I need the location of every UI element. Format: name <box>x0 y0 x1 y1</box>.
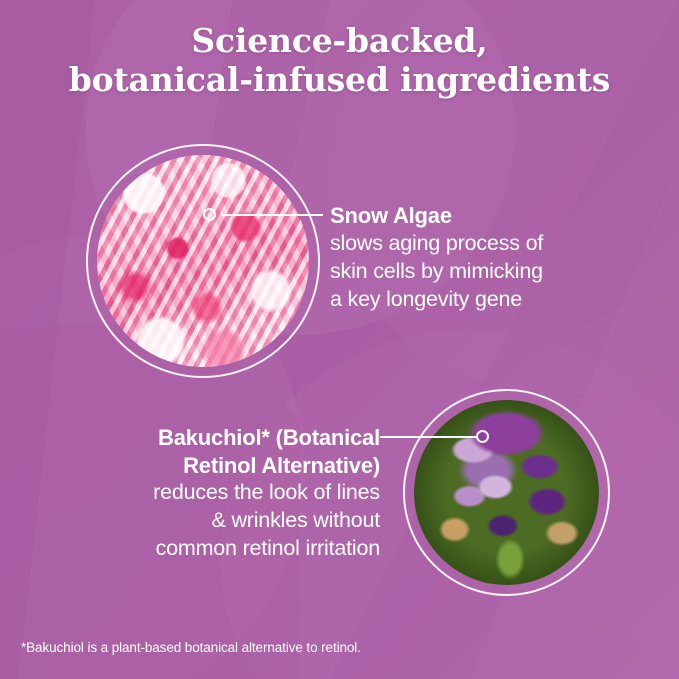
snow-algae-callout: Snow Algae slows aging process of skin c… <box>330 202 630 314</box>
background-petal-shapes <box>0 0 679 679</box>
snow-algae-photo <box>97 155 309 367</box>
ingredients-infographic: Science-backed, botanical-infused ingred… <box>0 0 679 679</box>
snow-algae-desc-line-2: skin cells by mimicking <box>330 258 630 286</box>
snow-algae-desc-line-1: slows aging process of <box>330 230 630 258</box>
bakuchiol-flower-photo <box>414 400 599 585</box>
footnote-text: *Bakuchiol is a plant-based botanical al… <box>21 640 361 655</box>
bakuchiol-desc-line-2: & wrinkles without <box>40 507 380 535</box>
title-line-2: botanical-infused ingredients <box>0 61 679 100</box>
bakuchiol-desc-line-3: common retinol irritation <box>40 535 380 563</box>
title-line-1: Science-backed, <box>0 22 679 61</box>
bakuchiol-marker-dot <box>476 430 489 443</box>
snow-algae-heading: Snow Algae <box>330 202 630 230</box>
bakuchiol-desc-line-1: reduces the look of lines <box>40 479 380 507</box>
snow-algae-connector-line <box>221 214 323 216</box>
bakuchiol-heading-line-2: Retinol Alternative) <box>40 452 380 480</box>
bakuchiol-connector-line <box>380 436 478 438</box>
snow-algae-desc-line-3: a key longevity gene <box>330 286 630 314</box>
page-title: Science-backed, botanical-infused ingred… <box>0 22 679 99</box>
snow-algae-marker-dot <box>203 208 216 221</box>
bakuchiol-heading-line-1: Bakuchiol* (Botanical <box>40 424 380 452</box>
bakuchiol-callout: Bakuchiol* (Botanical Retinol Alternativ… <box>40 424 380 563</box>
